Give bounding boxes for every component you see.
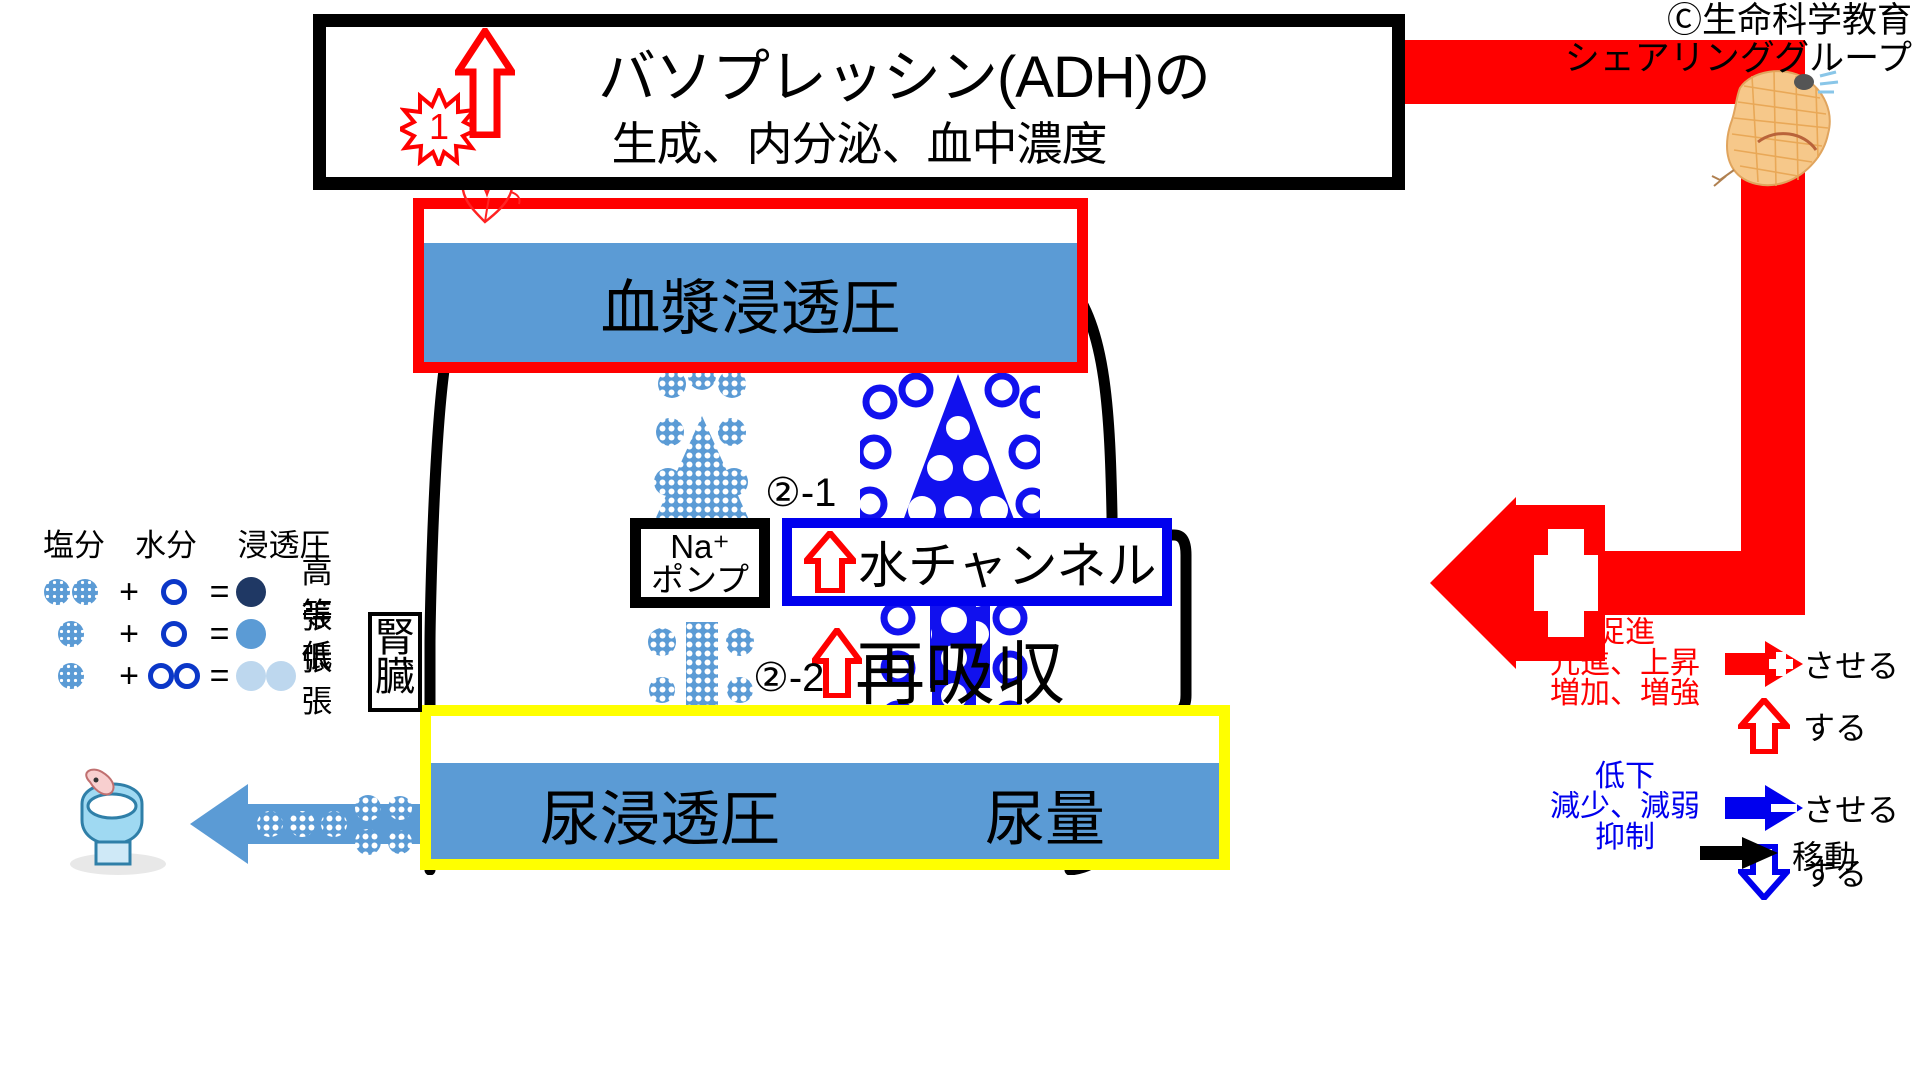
tonicity-result-swatch (236, 619, 302, 649)
effect-row-move: 移動 (1700, 832, 1856, 878)
suppress-text-block: 低下 減少、減弱 抑制 (1525, 762, 1725, 854)
tonicity-result-swatch (236, 661, 302, 691)
water-particles (145, 663, 203, 689)
promote-line2: 亢進、上昇 (1525, 649, 1725, 680)
step-label-2-2: ②-2 (753, 655, 824, 701)
water-channel-label: 水チャンネル (858, 526, 1157, 598)
suppress-line2: 減少、減弱 (1525, 792, 1725, 823)
promote-text-block: 促進 亢進、上昇 増加、増強 (1525, 618, 1725, 710)
sodium-pump-box[interactable]: Na⁺ ポンプ (630, 518, 770, 608)
effect-row-promote-cause: 促進 亢進、上昇 増加、増強 させる (1525, 618, 1915, 710)
tonicity-result-swatch (236, 577, 302, 607)
toilet-icon (60, 768, 180, 878)
suppress-line3: 抑制 (1525, 823, 1725, 854)
equals-sign: = (203, 573, 235, 612)
suppress-suffix-block: させる (1803, 785, 1899, 831)
plus-sign: + (113, 615, 145, 654)
salt-particles (30, 663, 113, 689)
promote-line1: 促進 (1525, 618, 1725, 649)
equals-sign: = (203, 657, 235, 696)
tonicity-row-hypotonic: + = 低張 (30, 655, 360, 697)
water-channel-box[interactable]: 水チャンネル (782, 518, 1172, 606)
tonicity-header-salt: 塩分 (30, 520, 118, 565)
sodium-pump-label-line2: ポンプ (651, 563, 749, 596)
promote-suffix-hollow: する (1803, 703, 1867, 749)
diagram-canvas: 血漿浸透圧 (0, 0, 1920, 1080)
urine-outflow-arrow (190, 778, 420, 870)
tonicity-header-water: 水分 (118, 520, 214, 565)
red-hollow-up-arrow-icon-legend (1725, 698, 1803, 754)
promote-line3: 増加、増強 (1525, 679, 1725, 710)
urine-volume-label: 尿量 (900, 770, 1190, 858)
copyright-line2: シェアリンググループ (1565, 40, 1912, 78)
tonicity-legend: 塩分 水分 浸透圧 + = 高張 + (30, 520, 360, 697)
kidney-label-text: 腎臓 (375, 616, 415, 699)
salt-particles (30, 621, 113, 647)
reabsorption-label: 再吸収 (855, 618, 1065, 719)
water-particles (145, 621, 203, 647)
copyright-line1: Ⓒ生命科学教育 (1565, 2, 1912, 40)
red-hollow-up-arrow-icon (804, 531, 856, 593)
pituitary-gland-icon (1700, 58, 1850, 198)
plasma-osmolality-label: 血漿浸透圧 (424, 248, 1077, 358)
promote-suffix-block: させる (1803, 641, 1899, 687)
water-particles (145, 579, 203, 605)
plus-sign: + (113, 573, 145, 612)
suppress-line1: 低下 (1525, 762, 1725, 793)
step-badge-1: 1 (400, 88, 478, 166)
urine-osmolality-label: 尿浸透圧 (470, 770, 850, 858)
move-label: 移動 (1792, 832, 1856, 878)
sodium-pump-label-line1: Na⁺ (670, 530, 730, 563)
black-arrow-icon-legend (1700, 835, 1778, 876)
red-plus-arrow-icon-legend (1725, 639, 1803, 689)
copyright-notice: Ⓒ生命科学教育 シェアリンググループ (1565, 2, 1912, 78)
equals-sign: = (203, 615, 235, 654)
blue-arrow-icon-legend (1725, 783, 1803, 833)
kidney-label: 腎臓 (368, 612, 422, 712)
tonicity-label-hypotonic: 低張 (302, 631, 360, 721)
salt-particles (30, 579, 113, 605)
step-label-2-1: ②-1 (765, 470, 836, 516)
plus-sign: + (113, 657, 145, 696)
